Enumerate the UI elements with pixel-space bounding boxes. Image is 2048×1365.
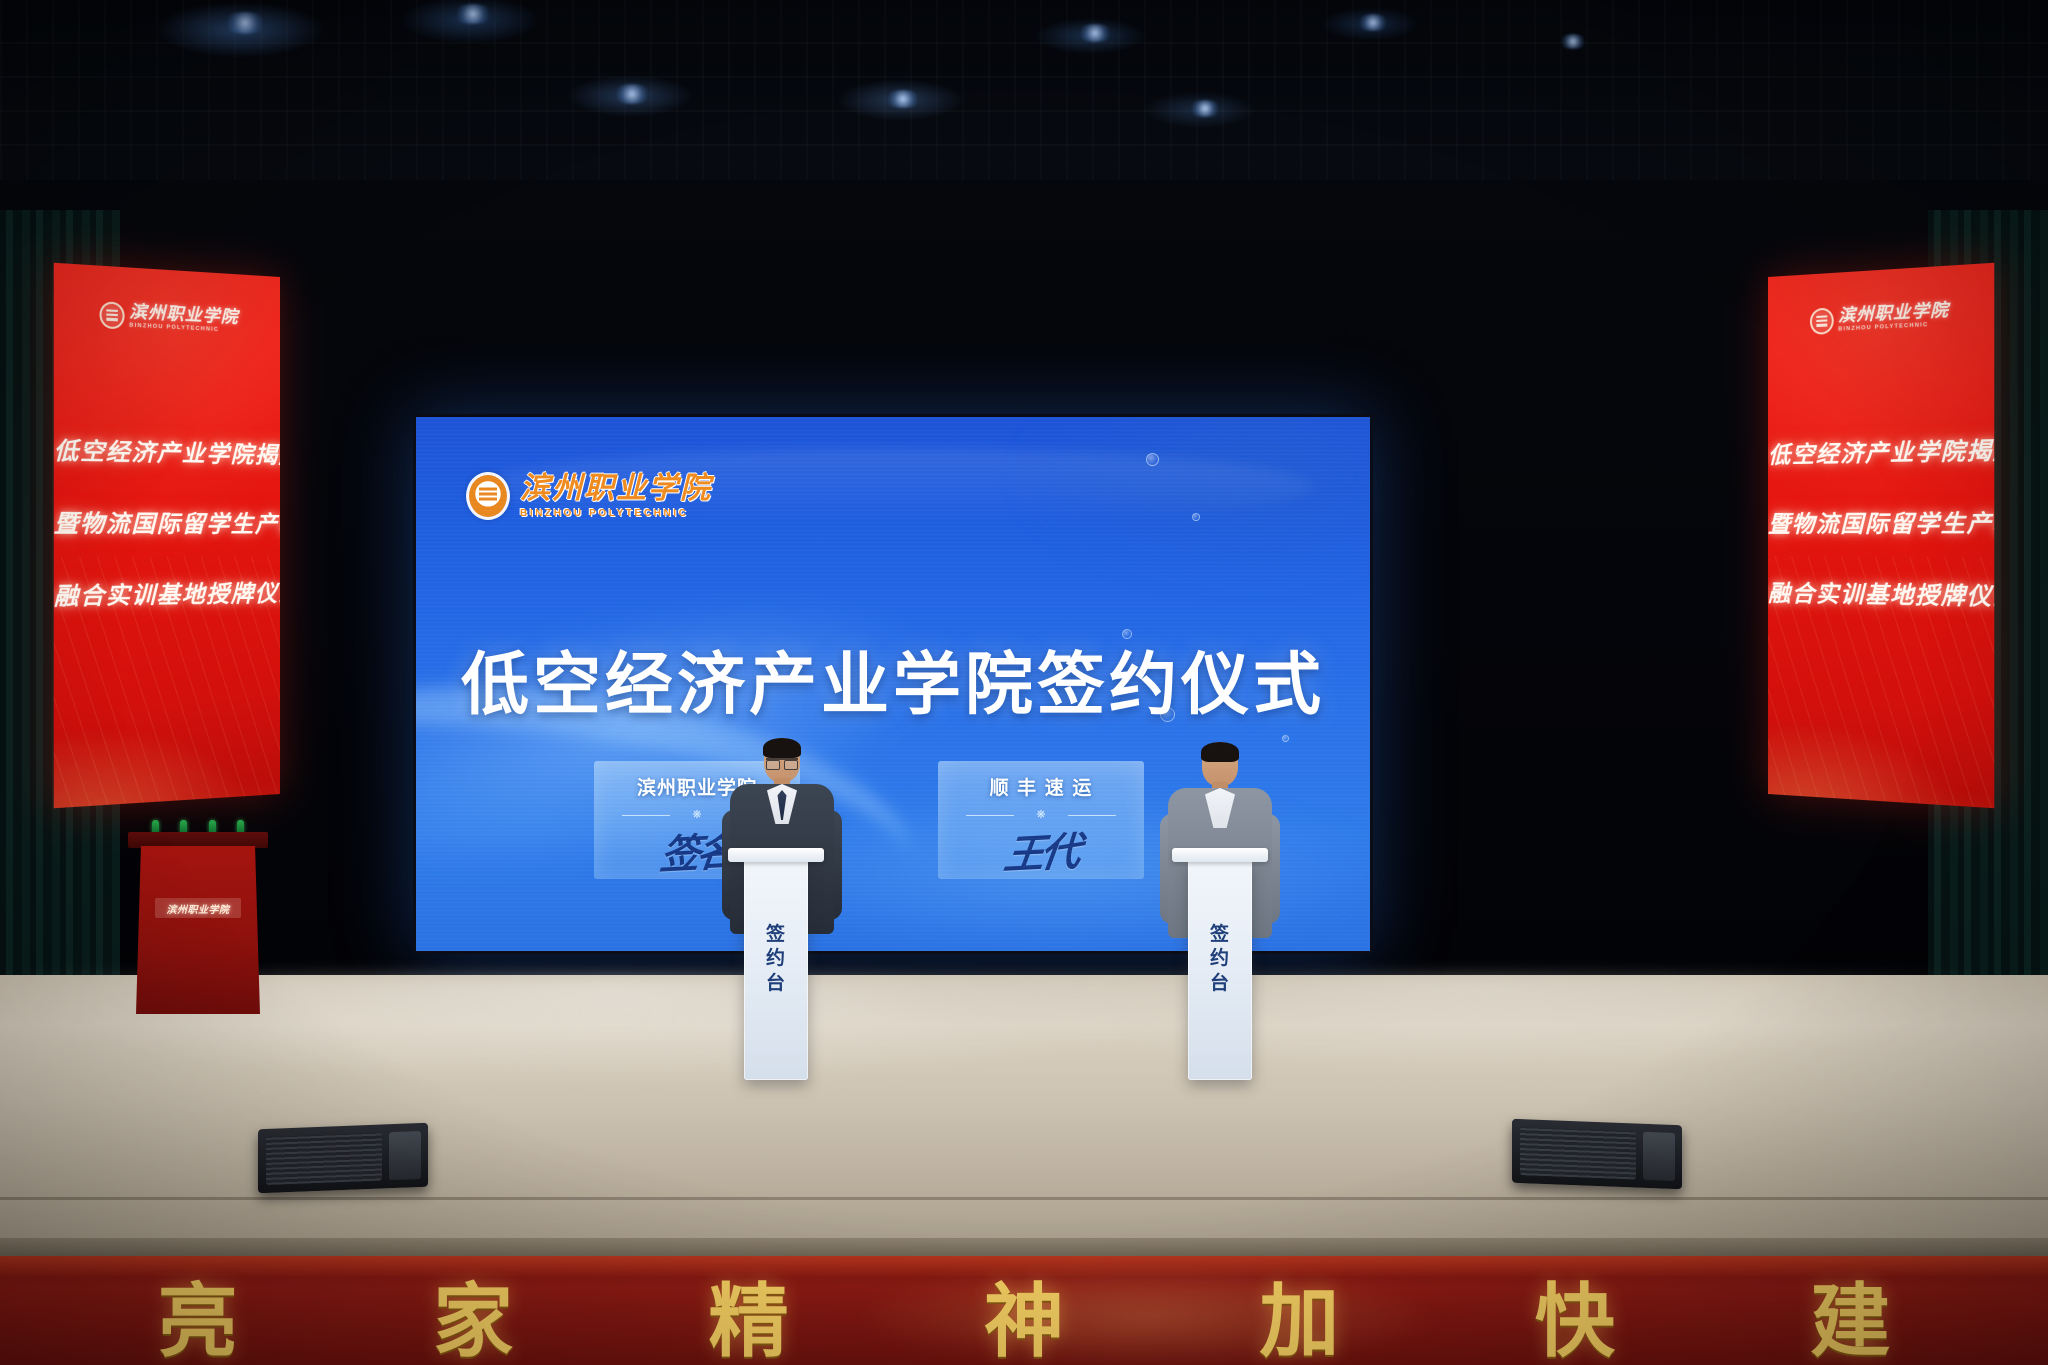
banner-line: 暨物流国际留学生产教 <box>54 513 280 537</box>
banner-line: 低空经济产业学院揭牌 <box>54 440 280 468</box>
desk-label-char: 约 <box>744 946 808 970</box>
bubble-decor-icon <box>1282 735 1289 742</box>
desk-label-right: 签 约 台 <box>1188 922 1252 995</box>
desk-label-char: 签 <box>1188 922 1252 946</box>
speaker-side-panel <box>389 1131 421 1180</box>
stage-photo: 滨州职业学院 BINZHOU POLYTECHNIC 低空经济产业学院揭牌 暨物… <box>0 0 2048 1365</box>
stage-light-icon <box>1076 24 1114 42</box>
stage-light-icon <box>222 12 268 34</box>
foreground-banner-text: 亮 家 精 神 加 快 建 <box>0 1282 2048 1362</box>
lectern-plate: 滨州职业学院 <box>155 898 241 918</box>
bubble-decor-icon <box>1192 513 1200 521</box>
banner-line-decor <box>54 556 280 808</box>
lectern-plate-text: 滨州职业学院 <box>167 901 230 916</box>
bubble-decor-icon <box>1146 453 1159 466</box>
glasses-icon <box>766 758 798 767</box>
banner-gold-char: 亮 <box>158 1282 238 1362</box>
signature-right: 王代 <box>934 816 1149 885</box>
screen-logo-english: BINZHOU POLYTECHNIC <box>520 509 712 519</box>
banner-gold-char: 建 <box>1810 1282 1890 1362</box>
signing-card-org: 顺 丰 速 运 <box>938 773 1144 800</box>
banner-gold-char: 加 <box>1259 1282 1339 1362</box>
university-seal-icon <box>1809 307 1833 335</box>
stage-monitor-left <box>258 1123 428 1194</box>
lectern-body: 滨州职业学院 <box>136 846 260 1014</box>
truss-grid-cross <box>0 26 2048 146</box>
person-hair <box>1201 742 1239 762</box>
university-seal-icon <box>466 472 510 520</box>
signing-card-right: 顺 丰 速 运 ❋ 王代 <box>938 761 1144 879</box>
red-banner-left: 滨州职业学院 BINZHOU POLYTECHNIC 低空经济产业学院揭牌 暨物… <box>54 263 280 808</box>
desk-label-char: 台 <box>744 971 808 995</box>
desk-top <box>728 848 824 862</box>
desk-label-char: 签 <box>744 922 808 946</box>
banner-line: 暨物流国际留学生产教 <box>1768 513 1994 537</box>
stage-light-icon <box>1558 34 1588 49</box>
floor-reflection <box>0 975 2048 1115</box>
person-hair <box>763 738 801 758</box>
university-seal-icon <box>99 301 124 329</box>
desk-top <box>1172 848 1268 862</box>
speaker-side-panel <box>1643 1132 1675 1181</box>
screen-logo-chinese: 滨州职业学院 <box>520 474 712 504</box>
stage-light-icon <box>884 90 922 108</box>
desk-label-char: 约 <box>1188 946 1252 970</box>
signing-desk-left: 签 约 台 <box>744 860 808 1080</box>
ornament-icon: ❋ <box>692 810 701 821</box>
stage-light-icon <box>1188 100 1222 117</box>
banner-gold-char: 精 <box>709 1282 789 1362</box>
floor-seam <box>0 1197 2048 1200</box>
screen-title: 低空经济产业学院签约仪式 <box>416 629 1370 728</box>
desk-label-char: 台 <box>1188 971 1252 995</box>
stage-light-icon <box>1356 14 1390 31</box>
banner-line: 低空经济产业学院揭牌 <box>1768 440 1994 468</box>
banner-gold-char: 快 <box>1535 1282 1615 1362</box>
stage-light-icon <box>452 4 494 24</box>
stage-edge <box>0 1238 2048 1258</box>
desk-label-left: 签 约 台 <box>744 922 808 995</box>
stage-light-icon <box>612 84 652 104</box>
foreground-red-banner: 亮 家 精 神 加 快 建 <box>0 1256 2048 1365</box>
ornament-icon: ❋ <box>1036 810 1045 821</box>
speaker-grille <box>266 1133 382 1185</box>
banner-gold-char: 家 <box>433 1282 513 1362</box>
stage-monitor-right <box>1512 1119 1682 1190</box>
banner-line-decor <box>1768 556 1994 808</box>
screen-logo: 滨州职业学院 BINZHOU POLYTECHNIC <box>466 472 712 520</box>
seal-glyph <box>479 488 497 505</box>
lectern-top <box>128 832 268 848</box>
speaker-grille <box>1520 1127 1636 1179</box>
red-banner-right: 滨州职业学院 BINZHOU POLYTECHNIC 低空经济产业学院揭牌 暨物… <box>1768 263 1994 808</box>
signing-desk-right: 签 约 台 <box>1188 860 1252 1080</box>
lectern: 滨州职业学院 <box>128 832 268 1032</box>
banner-gold-char: 神 <box>984 1282 1064 1362</box>
screen-logo-text: 滨州职业学院 BINZHOU POLYTECHNIC <box>520 474 712 519</box>
